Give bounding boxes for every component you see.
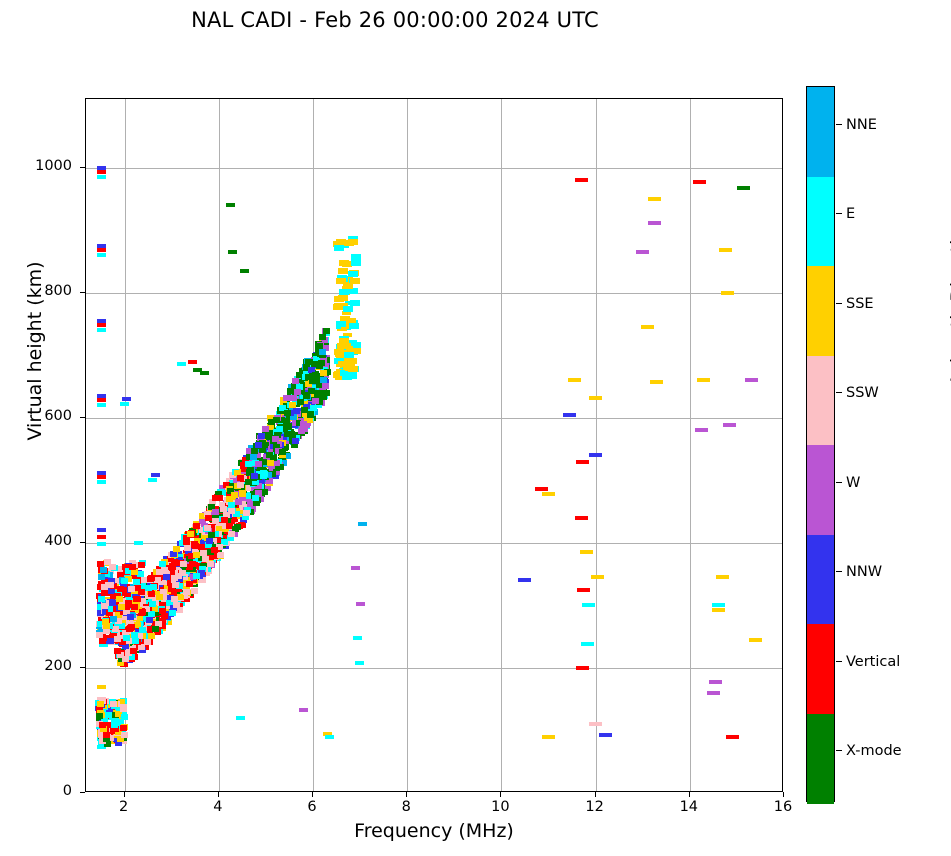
colorbar-tick <box>836 571 842 572</box>
data-point <box>305 374 312 380</box>
data-point <box>183 539 190 545</box>
data-point <box>101 603 108 609</box>
y-tick-label: 200 <box>0 658 72 674</box>
data-point <box>266 452 273 458</box>
data-point <box>258 433 265 439</box>
data-point <box>347 358 357 364</box>
y-tick-label: 1000 <box>0 158 72 174</box>
data-point <box>121 578 128 584</box>
x-tick-label: 14 <box>669 799 709 815</box>
x-tick <box>595 792 596 797</box>
data-point <box>518 578 531 582</box>
data-point <box>97 403 106 407</box>
data-point <box>237 475 244 481</box>
data-point <box>116 596 123 602</box>
data-point <box>255 442 262 448</box>
data-point <box>97 175 106 179</box>
data-point <box>183 589 190 595</box>
colorbar-segment-sse <box>807 266 834 356</box>
data-point <box>111 722 118 728</box>
data-point <box>105 712 112 718</box>
data-point <box>542 492 555 496</box>
data-point <box>575 178 588 182</box>
data-point <box>745 378 758 382</box>
data-point <box>138 644 145 650</box>
gridline-y <box>86 168 782 169</box>
data-point <box>737 186 750 190</box>
data-point <box>96 713 103 719</box>
data-point <box>159 608 166 614</box>
y-tick-label: 400 <box>0 533 72 549</box>
data-point <box>152 626 159 632</box>
data-point <box>599 733 612 737</box>
data-point <box>576 460 589 464</box>
data-point <box>98 596 105 602</box>
data-point <box>356 602 365 606</box>
data-point <box>250 454 257 460</box>
data-point <box>114 648 121 654</box>
data-point <box>636 250 649 254</box>
data-point <box>125 600 132 606</box>
data-point <box>268 419 275 425</box>
data-point <box>170 551 177 557</box>
data-point <box>695 428 708 432</box>
data-point <box>338 268 348 274</box>
y-tick-label: 0 <box>0 783 72 799</box>
data-point <box>205 515 212 521</box>
data-point <box>134 596 141 602</box>
x-tick-label: 16 <box>763 799 803 815</box>
data-point <box>97 480 106 484</box>
data-point <box>97 528 106 532</box>
data-point <box>130 648 137 654</box>
data-point <box>132 638 139 644</box>
data-point <box>110 701 117 707</box>
data-point <box>149 601 156 607</box>
colorbar-tick <box>836 661 842 662</box>
y-tick <box>80 542 85 543</box>
data-point <box>228 250 237 254</box>
data-point <box>336 321 346 327</box>
data-point <box>188 360 197 364</box>
data-point <box>211 547 218 553</box>
data-point <box>107 638 114 644</box>
data-point <box>348 271 358 277</box>
colorbar-tick <box>836 392 842 393</box>
data-point <box>193 552 200 558</box>
data-point <box>709 680 722 684</box>
data-point <box>591 575 604 579</box>
data-point <box>712 603 725 607</box>
data-point <box>151 473 160 477</box>
data-point <box>283 418 290 424</box>
data-point <box>334 296 344 302</box>
data-point <box>535 487 548 491</box>
data-point <box>169 610 176 616</box>
data-point <box>193 523 200 529</box>
data-point <box>97 685 106 689</box>
data-point <box>101 590 108 596</box>
data-point <box>339 289 349 295</box>
data-point <box>721 291 734 295</box>
data-point <box>193 573 200 579</box>
y-tick <box>80 792 85 793</box>
data-point <box>260 473 267 479</box>
x-tick <box>312 792 313 797</box>
data-point <box>576 666 589 670</box>
gridline-y <box>86 293 782 294</box>
data-point <box>97 328 106 332</box>
data-point <box>333 304 343 310</box>
data-point <box>186 581 193 587</box>
x-tick-label: 6 <box>292 799 332 815</box>
data-point <box>344 352 354 358</box>
data-point <box>231 492 238 498</box>
colorbar-segment-nne <box>807 87 834 177</box>
data-point <box>139 627 146 633</box>
data-point <box>319 349 326 355</box>
data-point <box>648 221 661 225</box>
data-point <box>228 502 235 508</box>
data-point <box>206 538 213 544</box>
gridline-x <box>690 99 691 791</box>
data-point <box>187 531 194 537</box>
data-point <box>749 638 762 642</box>
x-tick <box>783 792 784 797</box>
data-point <box>148 633 155 639</box>
data-point <box>580 550 593 554</box>
data-point <box>99 638 106 644</box>
data-point <box>171 596 178 602</box>
data-point <box>318 360 325 366</box>
data-point <box>220 506 227 512</box>
data-point <box>177 362 186 366</box>
data-point <box>349 323 359 329</box>
data-point <box>355 661 364 665</box>
data-point <box>255 461 262 467</box>
data-point <box>161 567 168 573</box>
data-point <box>131 632 138 638</box>
data-point <box>200 371 209 375</box>
data-point <box>131 569 138 575</box>
data-point <box>582 603 595 607</box>
data-point <box>175 573 182 579</box>
colorbar-tick <box>836 213 842 214</box>
data-point <box>208 532 215 538</box>
data-point <box>284 410 291 416</box>
data-point <box>103 623 110 629</box>
data-point <box>189 561 196 567</box>
data-point <box>177 594 184 600</box>
colorbar-tick <box>836 303 842 304</box>
data-point <box>240 269 249 273</box>
data-point <box>110 616 117 622</box>
ionogram-page: NAL CADI - Feb 26 00:00:00 2024 UTC 2468… <box>0 0 951 856</box>
colorbar-segment-vertical <box>807 624 834 714</box>
data-point <box>148 591 155 597</box>
data-point <box>173 602 180 608</box>
x-tick <box>689 792 690 797</box>
data-point <box>293 408 300 414</box>
data-point <box>299 708 308 712</box>
data-point <box>118 604 125 610</box>
data-point <box>184 545 191 551</box>
data-point <box>312 372 319 378</box>
gridline-x <box>407 99 408 791</box>
data-point <box>267 460 274 466</box>
colorbar-label-w: W <box>846 475 860 491</box>
data-point <box>134 541 143 545</box>
data-point <box>172 582 179 588</box>
data-point <box>707 691 720 695</box>
data-point <box>348 366 358 372</box>
data-point <box>648 197 661 201</box>
y-tick <box>80 417 85 418</box>
data-point <box>104 559 111 565</box>
data-point <box>577 588 590 592</box>
data-point <box>341 343 351 349</box>
data-point <box>320 370 327 376</box>
data-point <box>351 254 361 260</box>
data-point <box>120 402 129 406</box>
colorbar-tick <box>836 482 842 483</box>
data-point <box>226 203 235 207</box>
data-point <box>100 567 107 573</box>
data-point <box>251 473 258 479</box>
data-point <box>563 413 576 417</box>
data-point <box>173 546 180 552</box>
gridline-y <box>86 668 782 669</box>
data-canvas <box>86 99 782 791</box>
data-point <box>114 636 121 642</box>
x-tick-label: 8 <box>386 799 426 815</box>
plot-area <box>85 98 783 792</box>
data-point <box>325 735 334 739</box>
data-point <box>97 701 104 707</box>
data-point <box>148 478 157 482</box>
colorbar-label-nnw: NNW <box>846 564 882 580</box>
data-point <box>128 586 135 592</box>
data-point <box>129 564 136 570</box>
data-point <box>716 575 729 579</box>
data-point <box>697 378 710 382</box>
data-point <box>112 626 119 632</box>
data-point <box>191 588 198 594</box>
data-point <box>239 491 246 497</box>
data-point <box>97 535 106 539</box>
colorbar-label-nne: NNE <box>846 117 877 133</box>
data-point <box>212 509 219 515</box>
data-point <box>207 561 214 567</box>
data-point <box>568 378 581 382</box>
data-point <box>319 334 326 340</box>
data-point <box>121 714 128 720</box>
colorbar-segment-e <box>807 177 834 267</box>
y-axis-title: Virtual height (km) <box>24 221 46 481</box>
data-point <box>334 245 344 251</box>
gridline-x <box>596 99 597 791</box>
colorbar-label-x-mode: X-mode <box>846 743 902 759</box>
x-tick-label: 2 <box>104 799 144 815</box>
data-point <box>320 377 327 383</box>
colorbar-segment-nnw <box>807 535 834 625</box>
x-tick <box>406 792 407 797</box>
data-point <box>99 722 106 728</box>
data-point <box>235 499 242 505</box>
data-point <box>137 571 144 577</box>
data-point <box>723 423 736 427</box>
data-point <box>138 562 145 568</box>
data-point <box>154 577 161 583</box>
data-point <box>343 306 353 312</box>
data-point <box>156 594 163 600</box>
data-point <box>180 561 187 567</box>
data-point <box>163 574 170 580</box>
data-point <box>336 239 346 245</box>
gridline-x <box>501 99 502 791</box>
data-point <box>589 722 602 726</box>
data-point <box>107 582 114 588</box>
data-point <box>144 639 151 645</box>
data-point <box>301 426 308 432</box>
x-tick <box>124 792 125 797</box>
y-tick <box>80 167 85 168</box>
page-title: NAL CADI - Feb 26 00:00:00 2024 UTC <box>0 8 790 32</box>
data-point <box>96 632 103 638</box>
data-point <box>128 624 135 630</box>
colorbar-segment-x-mode <box>807 714 834 804</box>
data-point <box>589 453 602 457</box>
data-point <box>98 574 105 580</box>
data-point <box>97 398 106 402</box>
data-point <box>641 325 654 329</box>
data-point <box>117 586 124 592</box>
data-point <box>103 732 110 738</box>
y-tick <box>80 667 85 668</box>
colorbar-label-e: E <box>846 206 855 222</box>
x-tick <box>218 792 219 797</box>
data-point <box>589 396 602 400</box>
data-point <box>292 378 299 384</box>
data-point <box>245 461 252 467</box>
data-point <box>650 380 663 384</box>
data-point <box>121 732 128 738</box>
data-point <box>323 328 330 334</box>
data-point <box>719 248 732 252</box>
colorbar-tick <box>836 750 842 751</box>
data-point <box>145 585 152 591</box>
data-point <box>204 525 211 531</box>
data-point <box>693 180 706 184</box>
colorbar-label-sse: SSE <box>846 296 874 312</box>
data-point <box>350 300 360 306</box>
data-point <box>221 517 228 523</box>
colorbar-tick <box>836 124 842 125</box>
data-point <box>236 716 245 720</box>
x-tick <box>500 792 501 797</box>
data-point <box>252 495 259 501</box>
data-point <box>334 349 344 355</box>
data-point <box>133 579 140 585</box>
data-point <box>542 735 555 739</box>
y-tick <box>80 292 85 293</box>
colorbar-segment-w <box>807 445 834 535</box>
data-point <box>122 656 129 662</box>
colorbar-label-ssw: SSW <box>846 385 879 401</box>
gridline-x <box>219 99 220 791</box>
data-point <box>348 239 358 245</box>
data-point <box>322 383 329 389</box>
data-point <box>234 524 241 530</box>
data-point <box>146 617 153 623</box>
data-point <box>353 636 362 640</box>
data-point <box>123 635 130 641</box>
data-point <box>122 397 131 401</box>
data-point <box>351 566 360 570</box>
data-point <box>712 608 725 612</box>
data-point <box>237 482 244 488</box>
gridline-y <box>86 418 782 419</box>
colorbar <box>806 86 835 802</box>
data-point <box>297 399 304 405</box>
data-point <box>300 421 307 427</box>
data-point <box>139 609 146 615</box>
data-point <box>358 522 367 526</box>
data-point <box>262 426 269 432</box>
data-point <box>279 449 286 455</box>
data-point <box>336 278 346 284</box>
data-point <box>148 575 155 581</box>
data-point <box>243 510 250 516</box>
data-point <box>172 560 179 566</box>
data-point <box>292 438 299 444</box>
data-point <box>120 725 127 731</box>
data-point <box>312 398 319 404</box>
data-point <box>212 518 219 524</box>
x-tick-label: 10 <box>480 799 520 815</box>
colorbar-label-vertical: Vertical <box>846 654 900 670</box>
data-point <box>290 395 297 401</box>
data-point <box>120 706 127 712</box>
gridline-x <box>313 99 314 791</box>
gridline-x <box>125 99 126 791</box>
data-point <box>575 516 588 520</box>
data-point <box>316 343 323 349</box>
data-point <box>307 412 314 418</box>
colorbar-segment-ssw <box>807 356 834 446</box>
data-point <box>726 735 739 739</box>
data-point <box>127 614 134 620</box>
data-point <box>351 260 361 266</box>
data-point <box>138 589 145 595</box>
x-tick-label: 12 <box>575 799 615 815</box>
data-point <box>202 556 209 562</box>
x-tick-label: 4 <box>198 799 238 815</box>
data-point <box>228 531 235 537</box>
x-axis-title: Frequency (MHz) <box>85 820 783 842</box>
data-point <box>289 402 296 408</box>
colorbar-title: Azimuth Direction <box>947 171 951 431</box>
data-point <box>216 495 223 501</box>
data-point <box>191 541 198 547</box>
data-point <box>97 542 106 546</box>
data-point <box>294 389 301 395</box>
data-point <box>97 253 106 257</box>
data-point <box>272 436 279 442</box>
data-point <box>581 642 594 646</box>
